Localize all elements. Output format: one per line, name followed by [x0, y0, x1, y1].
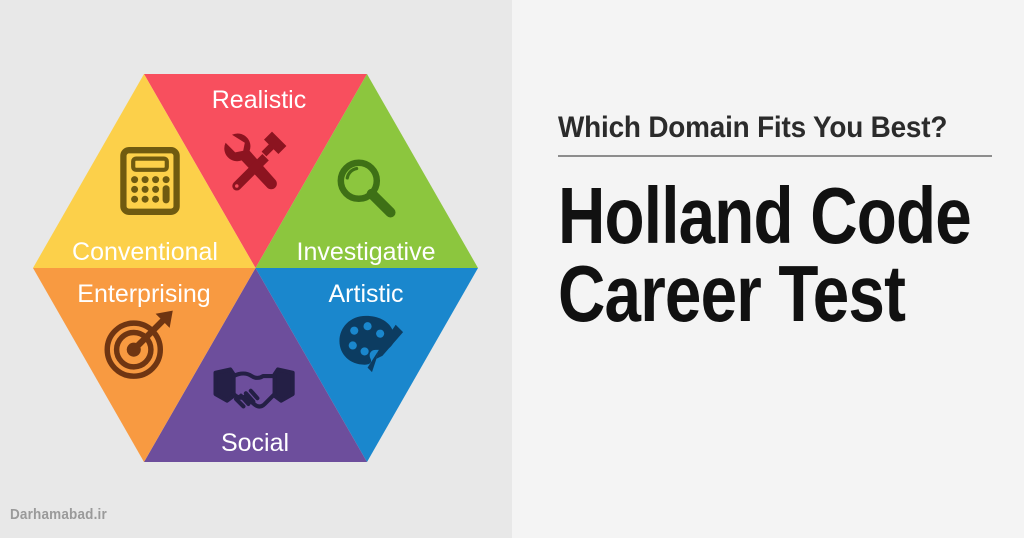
- headline-line-1: Holland Code: [558, 177, 919, 255]
- segment-label-enterprising: Enterprising: [77, 280, 210, 308]
- page-title: Holland Code Career Test: [558, 177, 919, 334]
- segment-label-investigative: Investigative: [297, 238, 436, 266]
- poster-canvas: Realistic Investigative Artistic Social …: [0, 0, 1024, 538]
- headline-line-2: Career Test: [558, 255, 919, 333]
- segment-label-social: Social: [221, 429, 289, 457]
- segment-label-artistic: Artistic: [329, 280, 404, 308]
- watermark: Darhamabad.ir: [10, 506, 107, 523]
- segment-label-realistic: Realistic: [212, 86, 306, 114]
- divider-rule: [558, 155, 992, 157]
- segment-label-conventional: Conventional: [72, 238, 218, 266]
- holland-hexagon-wheel: Realistic Investigative Artistic Social …: [33, 74, 478, 462]
- kicker-text: Which Domain Fits You Best?: [558, 112, 967, 144]
- poster-copy-block: Which Domain Fits You Best? Holland Code…: [558, 112, 998, 333]
